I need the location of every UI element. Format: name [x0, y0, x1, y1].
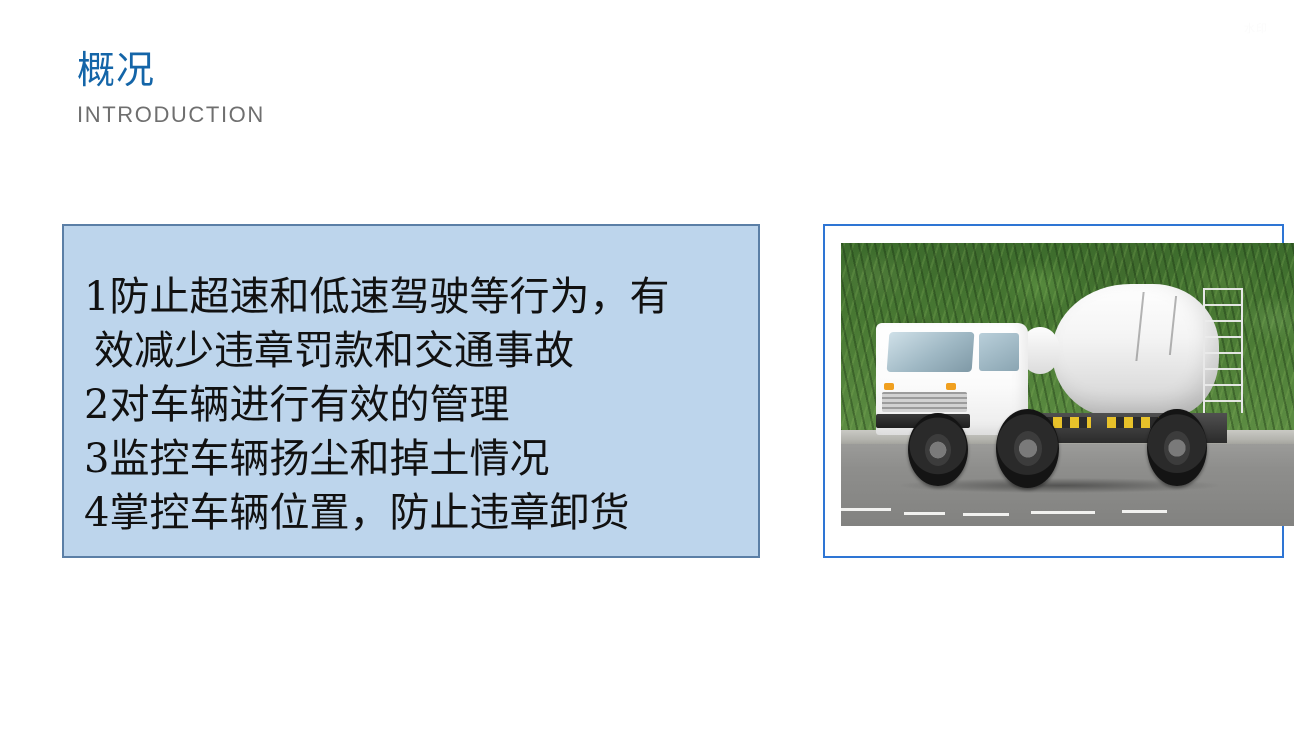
road-marking [963, 513, 1008, 516]
list-item: 3监控车辆扬尘和掉土情况 [84, 432, 746, 486]
road-marking [841, 508, 891, 511]
wheel [996, 409, 1060, 489]
road-marking [1031, 511, 1094, 514]
mixer-truck [868, 280, 1267, 495]
turn-signal-icon [946, 383, 957, 390]
list-item: 效减少违章罚款和交通事故 [84, 324, 746, 378]
wheel-hub [925, 434, 951, 466]
introduction-text-panel: 1防止超速和低速驾驶等行为，有 效减少违章罚款和交通事故 2对车辆进行有效的管理… [62, 224, 760, 558]
page-title: 概况 [77, 48, 597, 92]
list-item: 1防止超速和低速驾驶等行为，有 [84, 270, 746, 324]
mixer-truck-photo [841, 243, 1294, 526]
photo-content [841, 243, 1294, 526]
slide-canvas: 水印 概况 INTRODUCTION 1防止超速和低速驾驶等行为，有 效减少违章… [0, 0, 1300, 731]
heading-block: 概况 INTRODUCTION [77, 48, 597, 128]
wheel-hub [1164, 431, 1190, 465]
turn-signal-icon [884, 383, 895, 390]
wheel [1147, 409, 1207, 486]
windshield [887, 332, 975, 372]
drum-band [1135, 292, 1144, 361]
list-item: 4掌控车辆位置，防止违章卸货 [84, 486, 746, 540]
photo-frame [823, 224, 1284, 558]
side-window [979, 333, 1018, 371]
drum-band [1169, 296, 1177, 355]
page-subtitle: INTRODUCTION [77, 102, 597, 128]
wheel [908, 413, 968, 486]
watermark: 水印 [1224, 22, 1288, 80]
list-item: 2对车辆进行有效的管理 [84, 378, 746, 432]
front-grille [882, 392, 967, 412]
road-marking [1122, 510, 1167, 513]
road-marking [904, 512, 945, 515]
access-ladder [1203, 288, 1243, 413]
introduction-line-list: 1防止超速和低速驾驶等行为，有 效减少违章罚款和交通事故 2对车辆进行有效的管理… [84, 270, 746, 540]
wheel-hub [1014, 431, 1042, 466]
mixer-drum [1052, 284, 1219, 417]
